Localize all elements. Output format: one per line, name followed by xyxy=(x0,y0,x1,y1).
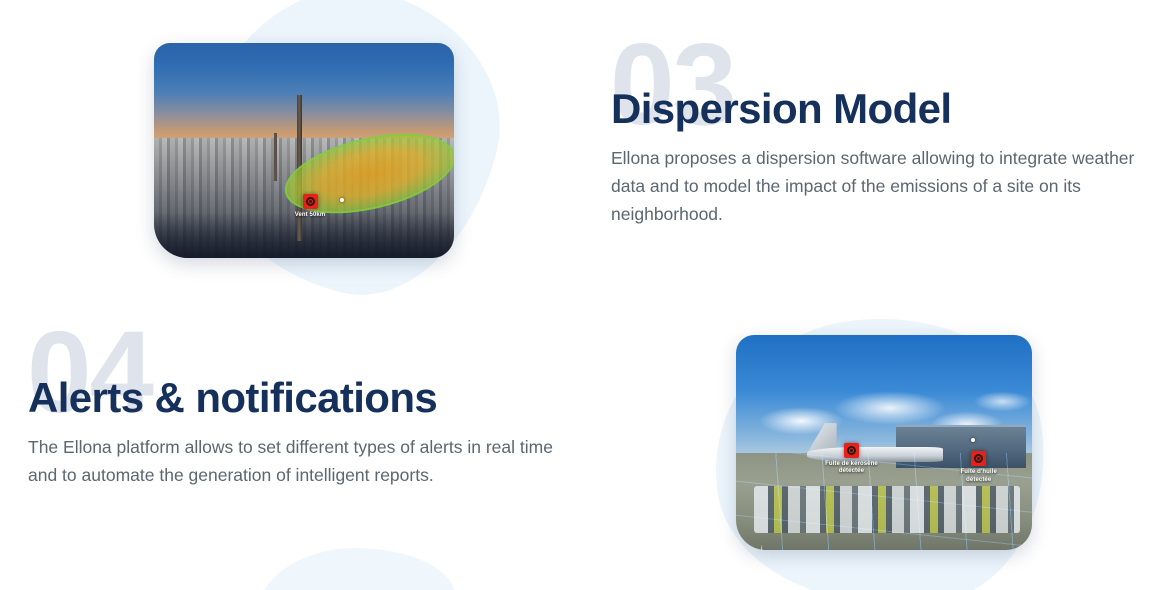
background-blob-shape xyxy=(255,548,455,590)
oil-leak-alert-marker[interactable]: Fuite d'huile détectée xyxy=(933,451,1025,484)
alerts-notifications-heading: Alerts & notifications xyxy=(28,375,558,420)
kerosene-leak-alert-marker[interactable]: Fuite de kérosène détectée xyxy=(805,443,897,476)
dispersion-image-canvas: Vent 50km xyxy=(154,43,454,258)
alert-marker-icon xyxy=(971,451,986,466)
sky-backdrop xyxy=(154,43,454,146)
dispersion-model-heading: Dispersion Model xyxy=(611,86,1146,131)
section-alerts-notifications: 04 Alerts & notifications The Ellona pla… xyxy=(28,375,558,490)
kerosene-leak-alert-label: Fuite de kérosène détectée xyxy=(825,461,878,476)
oil-leak-alert-label: Fuite d'huile détectée xyxy=(961,469,997,484)
alerts-airport-image: Fuite de kérosène détectée Fuite d'huile… xyxy=(736,335,1032,550)
wind-alert-marker-label: Vent 50km xyxy=(295,212,326,220)
dispersion-model-image: Vent 50km xyxy=(154,43,454,258)
secondary-chimney xyxy=(274,133,277,180)
page-root: Vent 50km 03 Dispersion Model Ellona pro… xyxy=(0,0,1160,590)
airport-image-canvas: Fuite de kérosène détectée Fuite d'huile… xyxy=(736,335,1032,550)
dispersion-model-body-text: Ellona proposes a dispersion software al… xyxy=(611,145,1146,228)
alerts-notifications-body-text: The Ellona platform allows to set differ… xyxy=(28,434,558,489)
sensor-point-icon xyxy=(340,198,344,202)
alert-marker-icon xyxy=(303,194,318,209)
alert-marker-icon xyxy=(844,443,859,458)
section-dispersion-model: 03 Dispersion Model Ellona proposes a di… xyxy=(611,86,1146,228)
